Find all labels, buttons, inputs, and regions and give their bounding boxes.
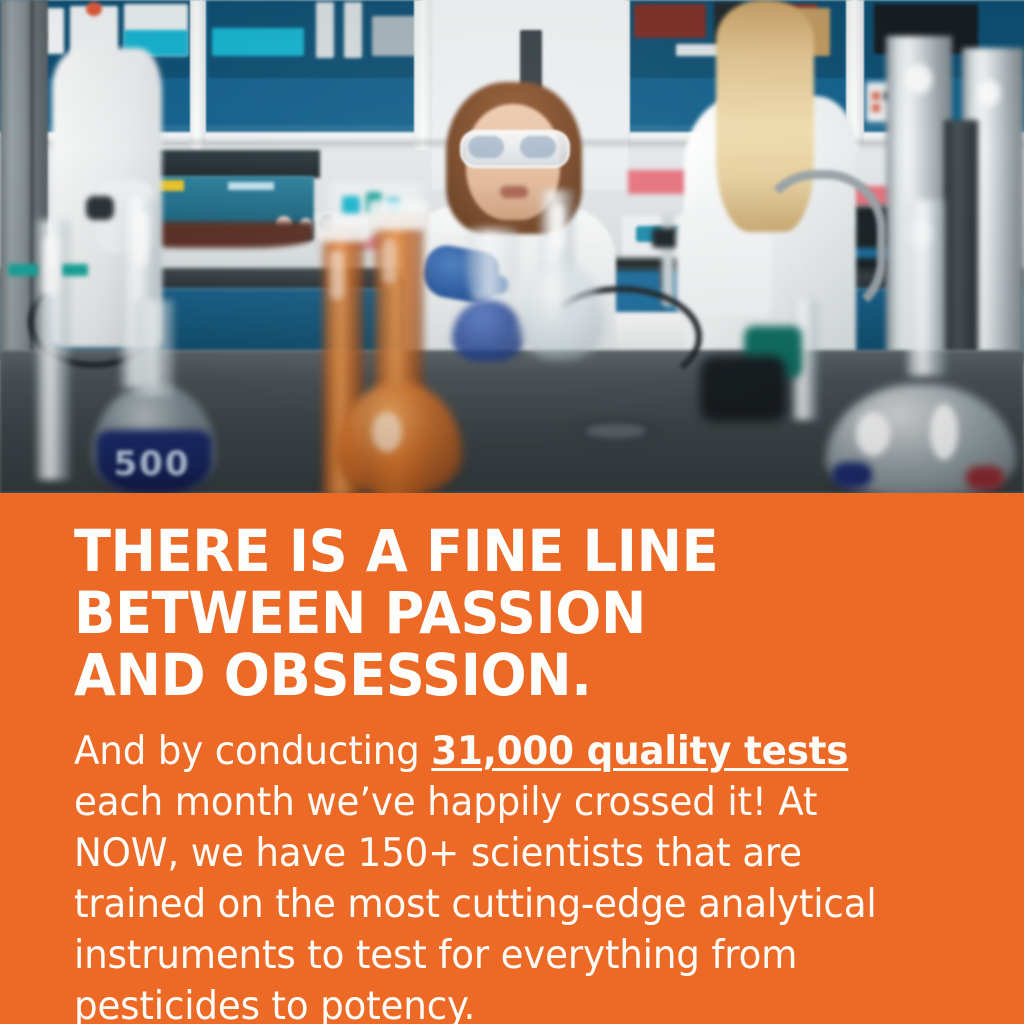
scientist-mouth bbox=[500, 186, 528, 198]
wall-switch-indicator bbox=[872, 104, 880, 112]
orange-text-panel: THERE IS A FINE LINE BETWEEN PASSION AND… bbox=[0, 493, 1024, 1024]
amber-bulb-highlight bbox=[372, 412, 402, 452]
body-copy-after: each month we’ve happily crossed it! At … bbox=[74, 780, 877, 1024]
burette-marker-teal bbox=[8, 264, 38, 276]
instrument-shadow bbox=[146, 222, 314, 248]
glass-highlight bbox=[552, 204, 564, 250]
goggle-lens-right bbox=[520, 136, 556, 158]
amber-highlight bbox=[382, 238, 396, 284]
goggle-lens-left bbox=[468, 136, 504, 158]
glass-highlight bbox=[856, 412, 890, 456]
cabinet-2 bbox=[202, 0, 422, 132]
page-title: THERE IS A FINE LINE BETWEEN PASSION AND… bbox=[74, 520, 897, 706]
bench-bottle-teal bbox=[342, 196, 360, 216]
glass-column-right bbox=[906, 200, 946, 376]
bench-item-dark bbox=[700, 356, 786, 422]
body-copy-before: And by conducting bbox=[74, 729, 431, 774]
body-copy-highlight: 31,000 quality tests bbox=[431, 729, 848, 774]
lab-photograph: 500 bbox=[0, 0, 1024, 493]
cabinet-2-contents bbox=[208, 0, 416, 78]
person-left-hand bbox=[86, 196, 114, 220]
cabinet-divider-post bbox=[190, 0, 206, 150]
glass-highlight bbox=[930, 404, 958, 460]
shelf-bottle bbox=[344, 2, 362, 58]
cabinet-divider-post bbox=[414, 0, 434, 150]
instrument-display-strip bbox=[228, 182, 274, 190]
poster: 500 THERE IS A FINE LINE BETWEEN PASSION… bbox=[0, 0, 1024, 1024]
cylinder-dark-column bbox=[944, 120, 978, 366]
coiled-hose bbox=[756, 170, 886, 320]
burette-marker-teal bbox=[62, 264, 88, 276]
wall-switch-indicator bbox=[872, 92, 880, 100]
flask-500-neck bbox=[134, 300, 174, 396]
amber-highlight bbox=[330, 250, 344, 300]
cylinder-highlight bbox=[906, 64, 932, 94]
shelf-bottle bbox=[316, 2, 334, 58]
shelf-box-teal bbox=[212, 28, 304, 56]
amber-column-1-cap bbox=[316, 214, 370, 242]
body-copy: And by conducting 31,000 quality tests e… bbox=[74, 726, 914, 1024]
cylinder-highlight bbox=[978, 80, 1000, 106]
flask-500-volume-label: 500 bbox=[104, 444, 200, 484]
shelf-dot-red bbox=[86, 2, 102, 16]
shelf-box-dark bbox=[634, 4, 706, 38]
instrument-left-top bbox=[138, 150, 320, 178]
bench-item-red bbox=[966, 466, 1004, 490]
bench-ring-highlight bbox=[586, 424, 646, 438]
shelf-box bbox=[372, 16, 416, 56]
glass-highlight bbox=[134, 212, 148, 266]
amber-column-2-cap bbox=[368, 200, 428, 230]
glass-flask-right-liquid bbox=[832, 462, 872, 488]
glass-highlight bbox=[44, 236, 58, 296]
